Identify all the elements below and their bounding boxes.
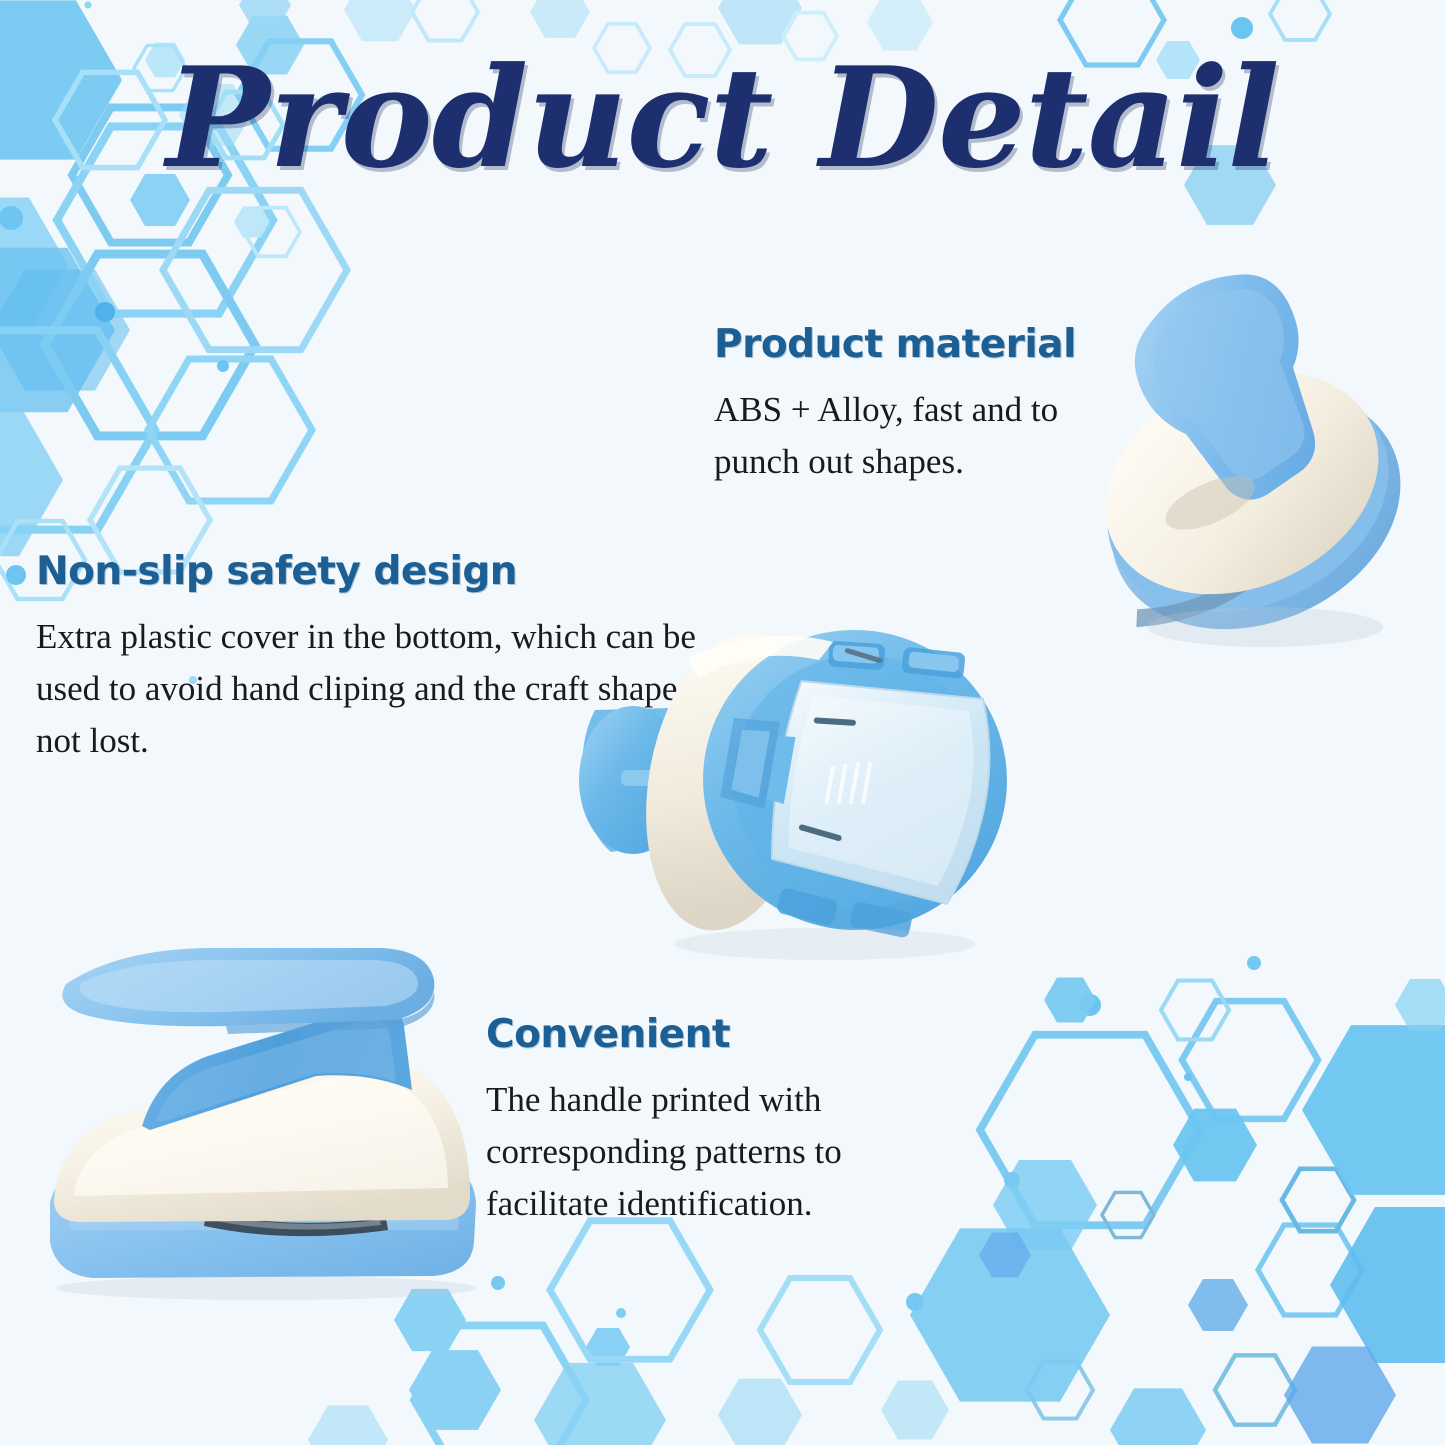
product-image-craft-punch-side-profile-view (30, 930, 500, 1305)
product-image-craft-punch-underside-view (575, 600, 1025, 970)
product-image-craft-punch-angled-view (1060, 235, 1445, 685)
hexagons-bottom-right (910, 956, 1445, 1445)
feature-heading-product-material: Product material (714, 325, 1114, 364)
feature-heading-non-slip-safety-design: Non-slip safety design (36, 552, 736, 591)
page-title: Product Detail (0, 46, 1445, 191)
feature-body-product-material: ABS + Alloy, fast and to punch out shape… (714, 384, 1114, 488)
feature-body-convenient: The handle printed with corresponding pa… (486, 1074, 956, 1229)
feature-block-product-material: Product material ABS + Alloy, fast and t… (714, 325, 1114, 488)
product-detail-infographic: Product Detail Product material ABS + Al… (0, 0, 1445, 1445)
feature-block-convenient: Convenient The handle printed with corre… (486, 1015, 956, 1229)
feature-heading-convenient: Convenient (486, 1015, 956, 1054)
